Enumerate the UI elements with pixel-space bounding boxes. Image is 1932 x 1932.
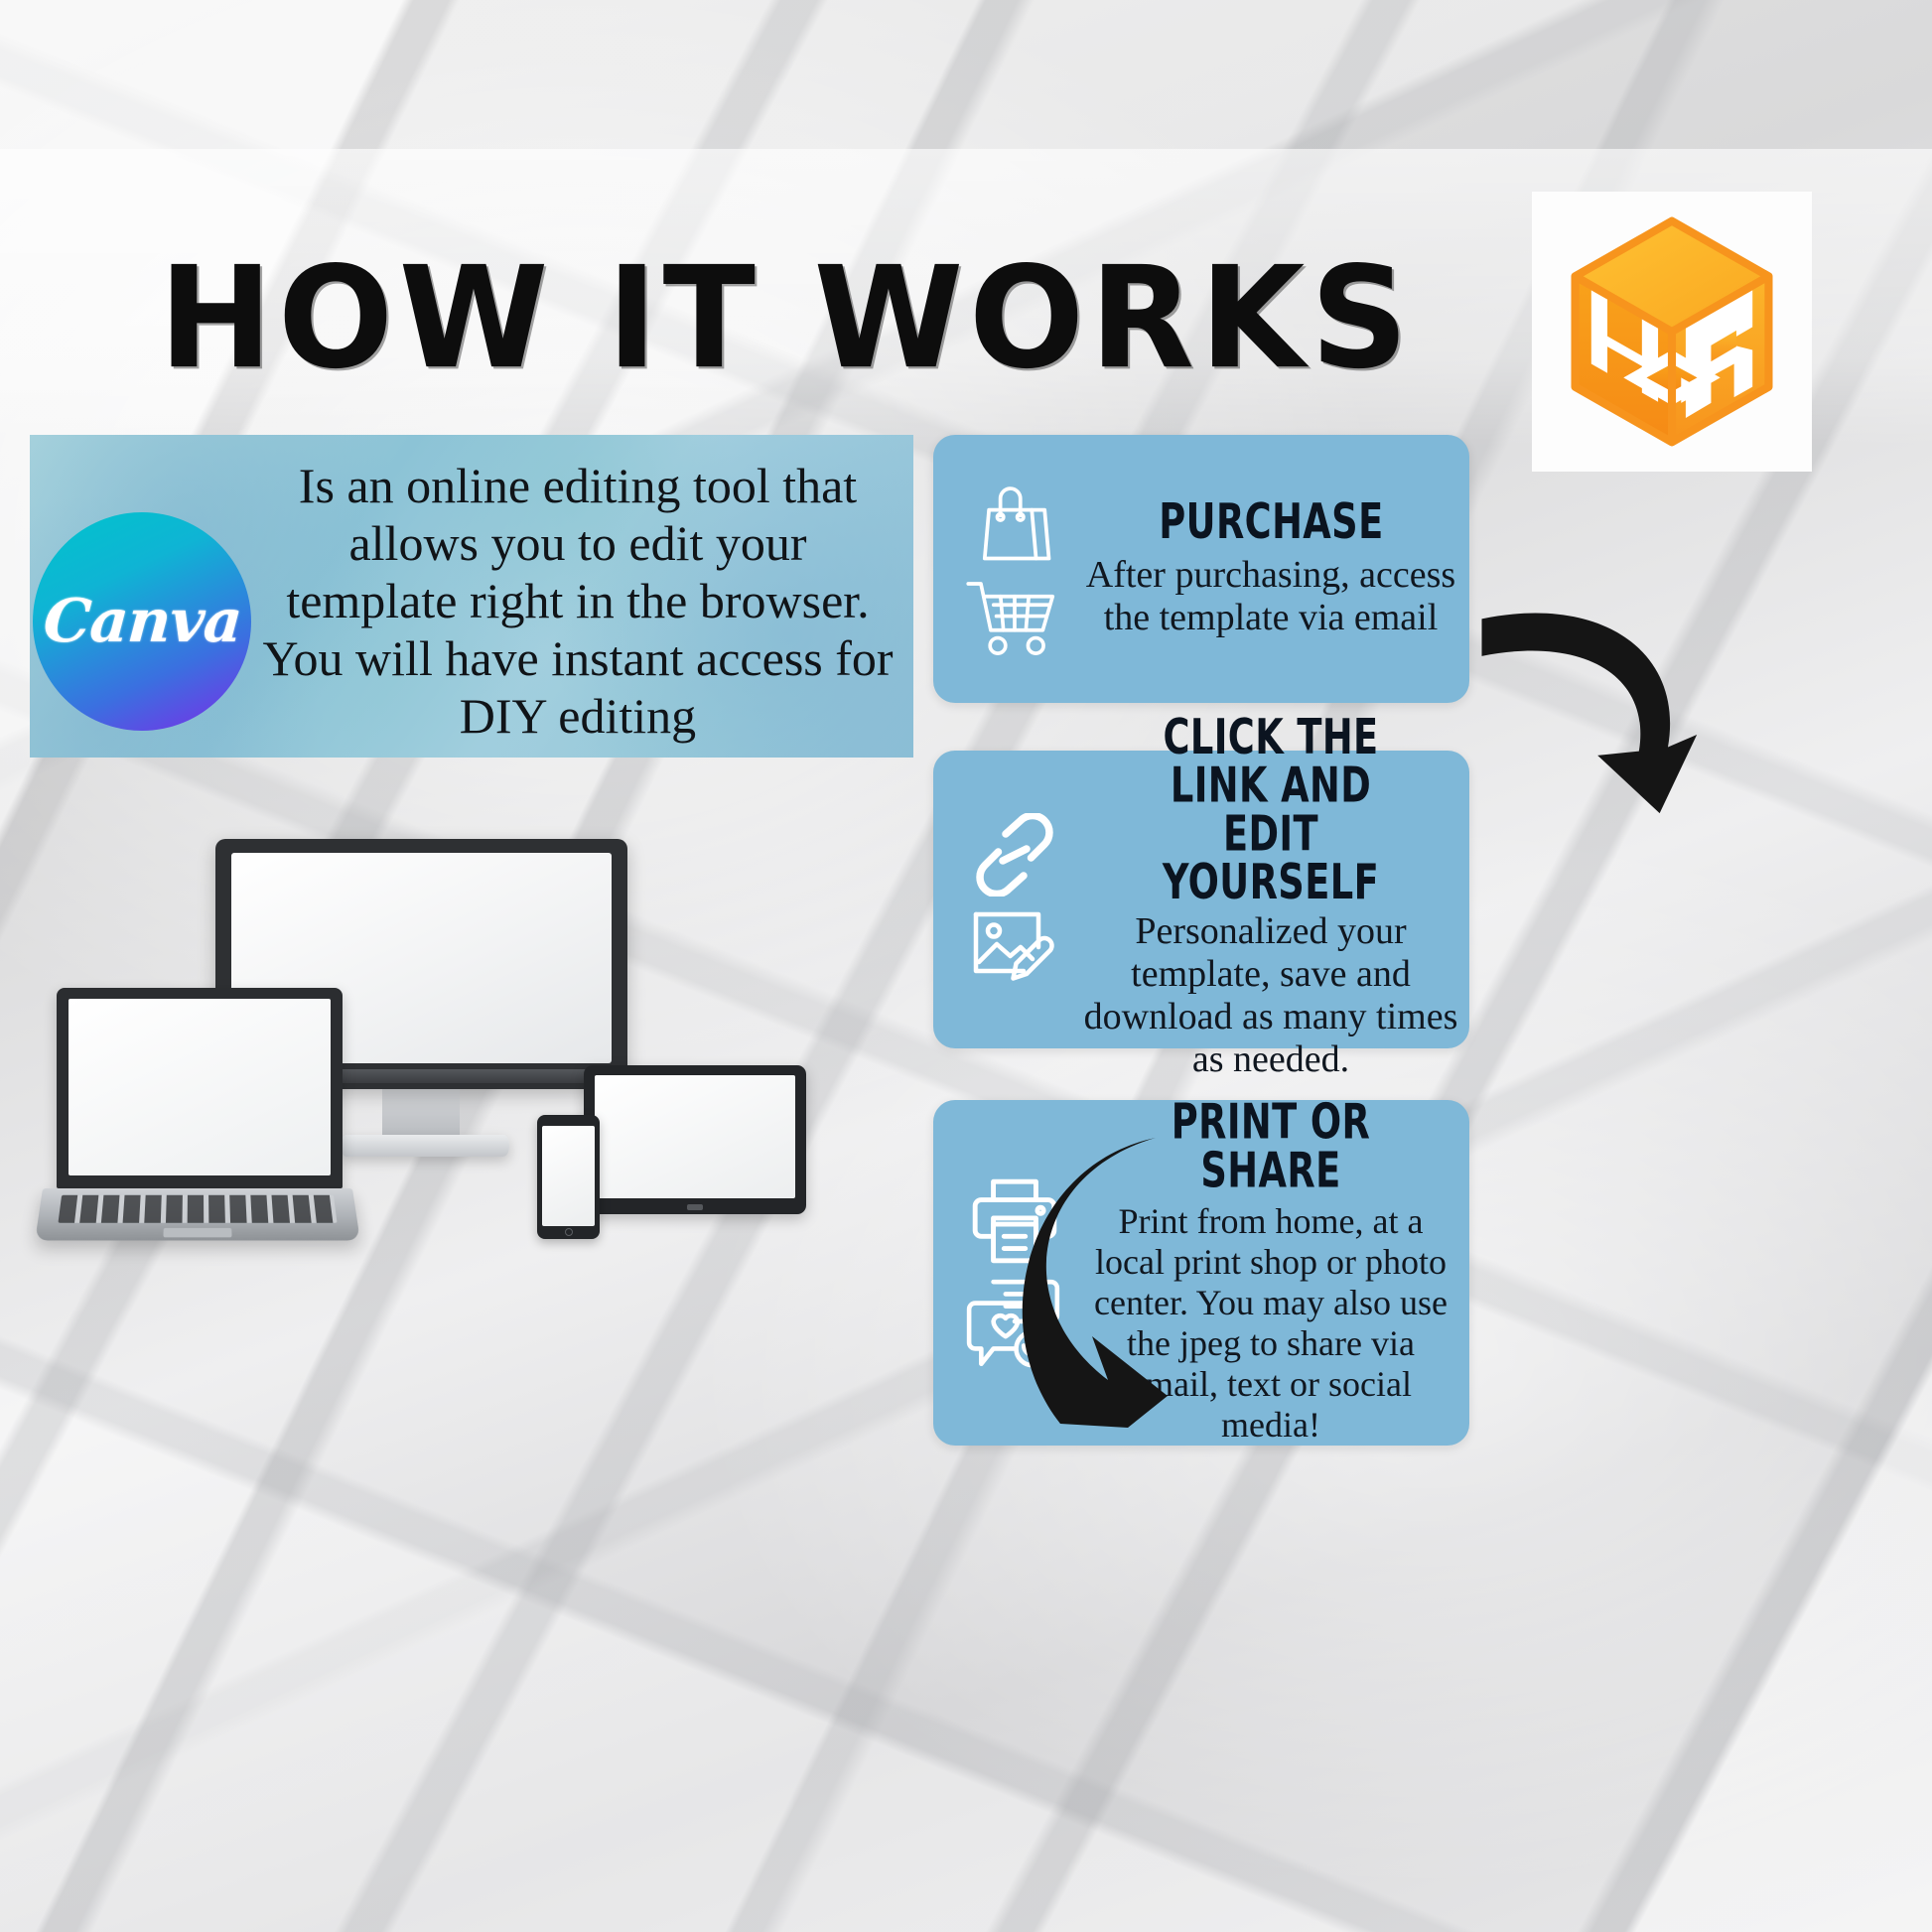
laptop-screen — [69, 999, 331, 1175]
canva-wordmark: Canva — [41, 587, 243, 656]
laptop-keyboard — [35, 1188, 360, 1240]
smartphone — [537, 1115, 600, 1239]
purchase-icons — [947, 435, 1082, 703]
phone-screen — [542, 1126, 595, 1226]
purchase-description: After purchasing, access the template vi… — [1082, 554, 1459, 639]
monitor-stand-neck — [382, 1089, 460, 1137]
canva-info-panel: Canva Is an online editing tool that all… — [30, 435, 913, 758]
purchase-body: PURCHASE After purchasing, access the te… — [1082, 435, 1459, 703]
tablet — [584, 1065, 806, 1214]
laptop-trackpad — [163, 1228, 231, 1237]
step-card-purchase: PURCHASE After purchasing, access the te… — [933, 435, 1469, 703]
arrow-devices-to-print — [1013, 1117, 1211, 1445]
link-chain-icon — [967, 813, 1062, 897]
laptop — [57, 988, 343, 1188]
shopping-cart-icon — [964, 576, 1065, 659]
tablet-home-button — [687, 1204, 703, 1210]
devices-mockup — [25, 839, 849, 1256]
edit-icons — [947, 751, 1082, 1048]
canva-description: Is an online editing tool that allows yo… — [260, 457, 896, 745]
canva-logo-badge: Canva — [33, 512, 251, 731]
shopping-bag-icon — [969, 479, 1060, 570]
image-edit-pencil-icon — [967, 902, 1062, 986]
monitor-stand-base — [341, 1135, 509, 1157]
tablet-screen — [595, 1075, 795, 1198]
purchase-title: PURCHASE — [1159, 497, 1383, 546]
edit-description: Personalized your template, save and dow… — [1082, 910, 1459, 1081]
edit-title: CLICK THE LINK AND EDIT YOURSELF — [1120, 712, 1422, 905]
hrg-cube-icon — [1557, 216, 1787, 447]
phone-home-button — [565, 1228, 573, 1236]
page-title: HOW IT WORKS — [159, 236, 1414, 400]
infographic-canvas: HOW IT WORKS — [0, 0, 1932, 1932]
edit-body: CLICK THE LINK AND EDIT YOURSELF Persona… — [1082, 751, 1459, 1048]
laptop-keys — [58, 1195, 337, 1223]
step-card-edit: CLICK THE LINK AND EDIT YOURSELF Persona… — [933, 751, 1469, 1048]
arrow-purchase-to-edit — [1469, 586, 1718, 834]
hrg-logo — [1532, 192, 1812, 472]
